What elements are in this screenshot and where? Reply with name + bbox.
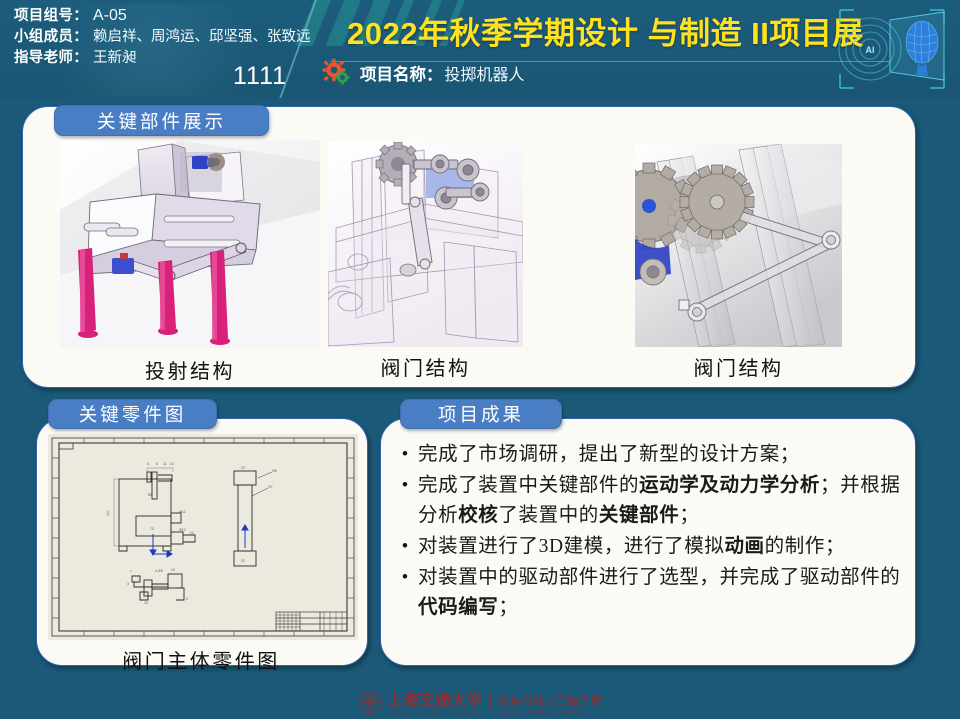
- list-item: • 对装置中的驱动部件进行了选型，并完成了驱动部件的代码编写；: [392, 563, 908, 623]
- meta-label-members: 小组成员：: [14, 30, 88, 45]
- engineering-drawing: 110 46 1110 8070 Φ12Φ12 12 22Φ5: [48, 434, 358, 640]
- meta-row-members: 小组成员： 赖启祥、周鸿运、邱坚强、张致远: [14, 30, 354, 45]
- ai-face-badge-icon: AI: [832, 2, 952, 96]
- svg-text:Φ7: Φ7: [268, 485, 273, 489]
- svg-text:110: 110: [106, 510, 110, 516]
- meta-value-members: 赖启祥、周鸿运、邱坚强、张致远: [93, 30, 311, 45]
- slide-footer: 上海交通大学 SHANGHAI JIAO TONG UNIVERSITY 机械与…: [0, 685, 960, 719]
- footer-divider: [490, 694, 491, 710]
- bullet-text-2: 完成了装置中关键部件的运动学及动力学分析；并根据分析校核了装置中的关键部件；: [418, 471, 908, 531]
- list-item: • 完成了装置中关键部件的运动学及动力学分析；并根据分析校核了装置中的关键部件；: [392, 471, 908, 531]
- photo-valve-wireframe: [328, 142, 523, 347]
- bullet-text-4: 对装置中的驱动部件进行了选型，并完成了驱动部件的代码编写；: [418, 563, 908, 623]
- section-title-key-drawing: 关键零件图: [48, 399, 217, 429]
- svg-text:22: 22: [241, 466, 245, 470]
- photo-valve-gears: [635, 144, 842, 347]
- svg-text:AI: AI: [866, 45, 875, 55]
- section-title-results: 项目成果: [400, 399, 562, 429]
- meta-row-advisor: 指导老师： 王新昶: [14, 51, 354, 66]
- photo-caption-1: 投射结构: [60, 355, 320, 384]
- svg-text:11: 11: [163, 462, 167, 466]
- sjtu-seal-icon: [357, 690, 383, 714]
- svg-text:4-Φ5: 4-Φ5: [155, 569, 163, 573]
- svg-text:10: 10: [170, 462, 174, 466]
- svg-text:14: 14: [171, 568, 175, 572]
- svg-text:12: 12: [190, 531, 194, 535]
- gear-icon: [322, 58, 352, 88]
- bullet-text-3: 对装置进行了3D建模，进行了模拟动画的制作；: [418, 532, 845, 562]
- bullet-glyph: •: [392, 440, 418, 470]
- bullet-glyph: •: [392, 563, 418, 623]
- project-name-line: 项目名称： 投掷机器人: [322, 58, 525, 88]
- meta-value-group: A-05: [93, 8, 127, 24]
- bullet-glyph: •: [392, 471, 418, 531]
- svg-text:6: 6: [156, 462, 158, 466]
- list-item: • 对装置进行了3D建模，进行了模拟动画的制作；: [392, 532, 908, 562]
- svg-text:3: 3: [127, 582, 129, 586]
- svg-text:70: 70: [150, 527, 154, 531]
- list-item: • 完成了市场调研，提出了新型的设计方案；: [392, 440, 908, 470]
- meta-label-advisor: 指导老师：: [14, 51, 88, 66]
- footer-university-en: SHANGHAI JIAO TONG UNIVERSITY: [387, 710, 483, 715]
- svg-text:Φ5: Φ5: [272, 469, 277, 473]
- project-meta-block: 项目组号： A-05 小组成员： 赖启祥、周鸿运、邱坚强、张致远 指导老师： 王…: [14, 8, 354, 71]
- photo-throwing-structure: [60, 140, 320, 348]
- section-title-key-parts: 关键部件展示: [54, 105, 269, 136]
- bullet-glyph: •: [392, 532, 418, 562]
- project-name-label: 项目名称：: [360, 61, 443, 85]
- photo-caption-3: 阀门结构: [635, 352, 842, 381]
- svg-text:80: 80: [148, 493, 152, 497]
- slide-header: 项目组号： A-05 小组成员： 赖启祥、周鸿运、邱坚强、张致远 指导老师： 王…: [0, 0, 960, 98]
- stray-number: 1111: [233, 62, 287, 91]
- footer-department-cn: 机械与动力工程学院: [498, 695, 602, 707]
- meta-value-advisor: 王新昶: [93, 51, 137, 66]
- svg-text:Φ12: Φ12: [179, 528, 186, 532]
- footer-department-en: SCHOOL OF MECHANICAL ENGINEERING: [498, 709, 602, 714]
- svg-text:22: 22: [241, 559, 245, 563]
- svg-text:Φ12: Φ12: [179, 510, 186, 514]
- slide-title: 2022年秋季学期设计 与制造 II项目展: [347, 8, 864, 53]
- svg-text:10: 10: [144, 601, 148, 605]
- project-name-value: 投掷机器人: [445, 61, 525, 85]
- footer-logo: 上海交通大学 SHANGHAI JIAO TONG UNIVERSITY 机械与…: [357, 689, 602, 715]
- footer-university-cn: 上海交通大学: [387, 693, 483, 709]
- bullet-text-1: 完成了市场调研，提出了新型的设计方案；: [418, 440, 800, 470]
- svg-text:4: 4: [147, 462, 149, 466]
- results-bullet-list: • 完成了市场调研，提出了新型的设计方案； • 完成了装置中关键部件的运动学及动…: [392, 440, 908, 652]
- drawing-caption: 阀门主体零件图: [46, 645, 356, 674]
- meta-row-group: 项目组号： A-05: [14, 8, 354, 24]
- svg-text:7: 7: [130, 570, 132, 574]
- meta-label-group: 项目组号：: [14, 9, 88, 24]
- photo-caption-2: 阀门结构: [328, 352, 523, 381]
- slide-root: 项目组号： A-05 小组成员： 赖启祥、周鸿运、邱坚强、张致远 指导老师： 王…: [0, 0, 960, 719]
- svg-text:4: 4: [186, 597, 188, 601]
